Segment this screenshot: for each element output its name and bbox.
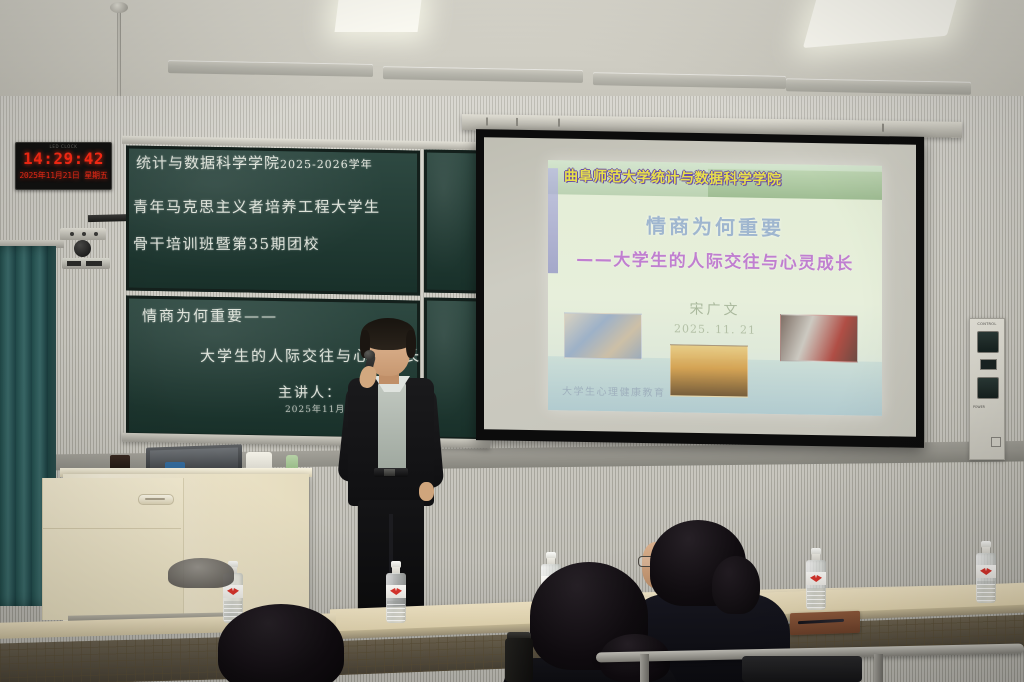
slide-photo-auditorium (670, 344, 748, 397)
thermos-bottle[interactable] (505, 638, 533, 682)
ceiling (0, 0, 1024, 108)
blackboard-text-line-4: 情商为何重要—— (142, 305, 278, 326)
water-bottle[interactable] (385, 561, 407, 623)
chair-post (874, 654, 883, 682)
ceiling-vent (593, 72, 786, 89)
water-bottle[interactable] (805, 548, 827, 610)
panel-module-bottom[interactable] (977, 377, 999, 399)
blackboard-text-line-2: 青年马克思主义者培养工程大学生 (133, 196, 381, 217)
slide-subtitle: ——大学生的人际交往与心灵成长 (548, 244, 882, 275)
ceiling-vent (786, 78, 971, 95)
projected-slide: 曲阜师范大学统计与数据科学学院 情商为何重要 ——大学生的人际交往与心灵成长 宋… (548, 160, 882, 416)
presenter-belt-buckle (384, 469, 395, 476)
presenter-hair-side (406, 330, 416, 358)
blackboard-line1-year: 2025-2026学年 (280, 158, 373, 171)
microphone-head (364, 350, 375, 360)
panel-label: CONTROL (970, 322, 1004, 326)
ceiling-vent (383, 66, 583, 83)
ceiling-light-icon (803, 0, 961, 48)
chair-backrest (742, 656, 862, 682)
blackboard-text-line-1: 统计与数据科学学院2025-2026学年 (136, 152, 373, 173)
panel-module-top[interactable] (977, 331, 999, 353)
audience-hair (218, 604, 344, 682)
bottle-ribs (977, 581, 995, 601)
camera-bracket (60, 228, 106, 240)
audience-hair-bun (712, 556, 760, 614)
slide-footer-text: 大学生心理健康教育 (562, 382, 666, 399)
ceiling-light-icon (335, 0, 423, 32)
blackboard-line1-main: 统计与数据科学学院 (136, 154, 280, 172)
water-bottle[interactable] (975, 541, 997, 603)
panel-bottom-label: POWER (973, 405, 985, 409)
wall-control-panel[interactable]: CONTROL POWER (969, 318, 1005, 460)
ceiling-vent (168, 60, 373, 77)
blackboard-text-line-3: 骨干培训班暨第35期团校 (133, 233, 320, 254)
bottle-ribs (387, 601, 405, 621)
digital-clock: LED CLOCK 14:29:42 2025年11月21日 星期五 (15, 142, 112, 190)
lectern-badge (138, 494, 174, 505)
panel-module-middle[interactable] (980, 359, 997, 370)
presenter-right-hand (419, 482, 434, 501)
lecture-hall-photo: LED CLOCK 14:29:42 2025年11月21日 星期五 统计与数据… (0, 0, 1024, 682)
camera-base (62, 258, 110, 269)
rod-ceiling-mount (110, 2, 128, 13)
bottle-ribs (807, 588, 825, 608)
clock-time-display: 14:29:42 (16, 149, 111, 168)
left-desk-mesh-shelf (0, 637, 250, 682)
panel-indicator-icon (991, 437, 1001, 447)
chair-post (640, 654, 649, 682)
slide-photo-students (564, 312, 642, 359)
slide-banner-title: 曲阜师范大学统计与数据科学学院 (564, 165, 782, 189)
lectern-panel-seam (43, 528, 181, 529)
clock-date-display: 2025年11月21日 星期五 (16, 170, 111, 181)
slide-photo-basketball (780, 314, 858, 362)
presenter-sweater (378, 380, 406, 476)
slide-main-title: 情商为何重要 (548, 208, 882, 243)
audience-member-background (168, 558, 234, 588)
security-camera-icon (74, 240, 91, 257)
